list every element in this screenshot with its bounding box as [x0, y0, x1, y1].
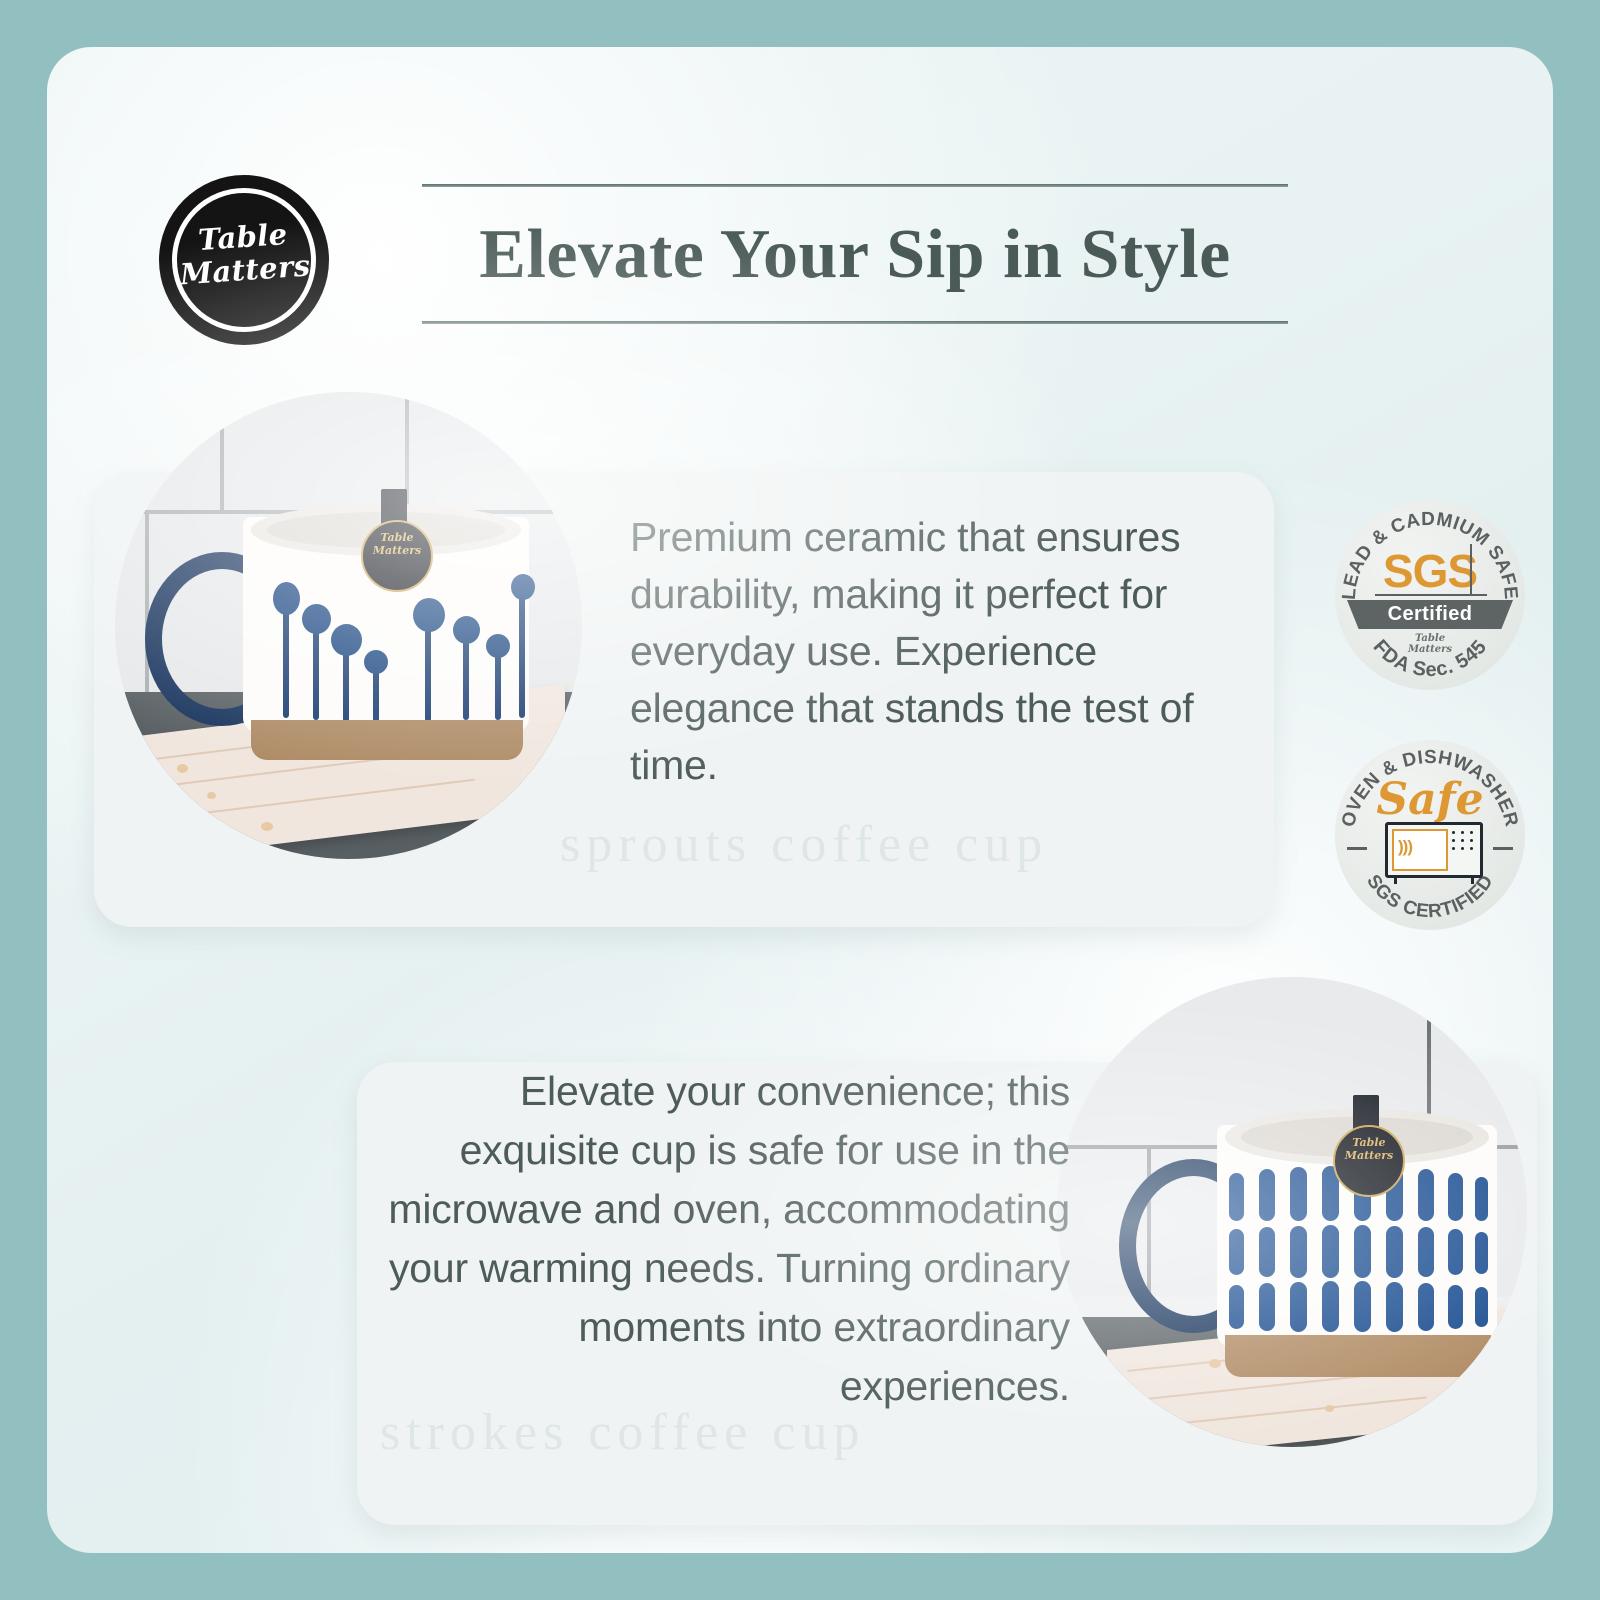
sprout-stem: [519, 588, 525, 718]
hang-tag-text: TableMatters: [363, 531, 431, 557]
stroke-dash: [1418, 1227, 1434, 1277]
tile-grout-v1: [220, 392, 224, 512]
hang-tag: TableMatters: [361, 520, 433, 592]
stroke-dash: [1448, 1229, 1463, 1275]
safe-mark: Safe: [1335, 778, 1525, 822]
stroke-dash: [1448, 1173, 1463, 1221]
stroke-dash: [1290, 1167, 1307, 1221]
stroke-dash: [1354, 1225, 1371, 1278]
stroke-dash: [1354, 1281, 1371, 1332]
oven-heat-waves: ))): [1398, 837, 1412, 857]
crumb: [261, 822, 273, 831]
crumb: [1209, 1359, 1221, 1368]
stroke-dash: [1229, 1229, 1244, 1275]
badge-tick-left: [1347, 847, 1367, 850]
stroke-dash: [1475, 1287, 1488, 1327]
stroke-dash: [1418, 1169, 1434, 1221]
sprout-stem: [463, 632, 469, 720]
svg-text:SGS CERTIFIED: SGS CERTIFIED: [1362, 871, 1498, 922]
feature-text-sprouts: Premium ceramic that ensures durability,…: [630, 509, 1250, 794]
stroke-dash: [1229, 1173, 1244, 1221]
sprout-stem: [495, 648, 501, 720]
stroke-dash: [1322, 1225, 1339, 1278]
content-panel: Table Matters Elevate Your Sip in Style: [47, 47, 1553, 1553]
logo-wordmark: Table Matters: [157, 215, 331, 293]
crumb: [177, 764, 188, 773]
product-photo-sprouts: TableMatters: [115, 392, 582, 859]
crumb: [1325, 1405, 1334, 1412]
hang-tag: TableMatters: [1333, 1125, 1405, 1197]
badge-tick-right: [1493, 847, 1513, 850]
stroke-dash: [1229, 1285, 1244, 1329]
crumb: [207, 792, 216, 799]
page-title: Elevate Your Sip in Style: [422, 207, 1288, 303]
title-rule-top: [422, 184, 1288, 187]
outer-border: Table Matters Elevate Your Sip in Style: [0, 0, 1600, 1600]
cork-base: [251, 720, 523, 760]
oven-icon: ))): [1385, 822, 1483, 878]
stroke-dash: [1386, 1282, 1403, 1332]
product-photo-strokes: TableMatters: [1057, 977, 1527, 1447]
stroke-dash: [1290, 1226, 1307, 1278]
oven-leg: [1394, 876, 1397, 884]
watermark-strokes: strokes coffee cup: [380, 1403, 865, 1462]
board-grain: [195, 779, 475, 815]
stroke-dash: [1259, 1227, 1275, 1277]
title-rule-bottom: [422, 321, 1288, 324]
stroke-dash: [1290, 1282, 1307, 1332]
sprout-head: [486, 634, 510, 658]
hang-tag-text: TableMatters: [1335, 1136, 1403, 1162]
stroke-dash: [1475, 1232, 1488, 1274]
oven-control-pad: [1452, 831, 1476, 853]
sprout-head: [364, 650, 388, 674]
watermark-sprouts: sprouts coffee cup: [560, 815, 1048, 874]
feature-text-strokes: Elevate your convenience; this exquisite…: [380, 1062, 1070, 1416]
sprout-head: [511, 574, 535, 600]
oven-leg: [1471, 876, 1474, 884]
board-grain: [1177, 1396, 1427, 1424]
badge-oven-dishwasher-safe: OVEN & DISHWASHER SGS CERTIFIED Safe ))): [1335, 740, 1525, 930]
table-matters-logo: Table Matters: [159, 175, 329, 345]
stroke-dash: [1418, 1283, 1434, 1331]
badge-brand-mark: TableMatters: [1335, 633, 1525, 655]
sprout-stem: [313, 620, 319, 720]
sprout-head: [413, 598, 445, 632]
sgs-mark: SGS: [1335, 548, 1525, 594]
sgs-vertical-line: [1470, 544, 1472, 594]
stroke-dash: [1448, 1285, 1463, 1329]
sgs-horizontal-line: [1375, 594, 1487, 596]
badge-lead-cadmium-safe: LEAD & CADMIUM SAFE FDA Sec. 545 SGS Cer…: [1335, 500, 1525, 690]
certified-bar: Certified: [1347, 600, 1513, 629]
sprout-stem: [425, 618, 431, 722]
stroke-dash: [1322, 1281, 1339, 1332]
sprout-head: [453, 616, 480, 644]
stroke-dash: [1386, 1226, 1403, 1278]
sprout-stem: [283, 600, 289, 718]
cork-base: [1225, 1335, 1491, 1377]
stroke-dash: [1259, 1283, 1275, 1331]
stroke-dash: [1475, 1177, 1488, 1221]
sprout-head: [331, 624, 362, 656]
stroke-dash: [1259, 1169, 1275, 1221]
sprout-head: [273, 582, 300, 615]
sprout-head: [302, 604, 331, 634]
